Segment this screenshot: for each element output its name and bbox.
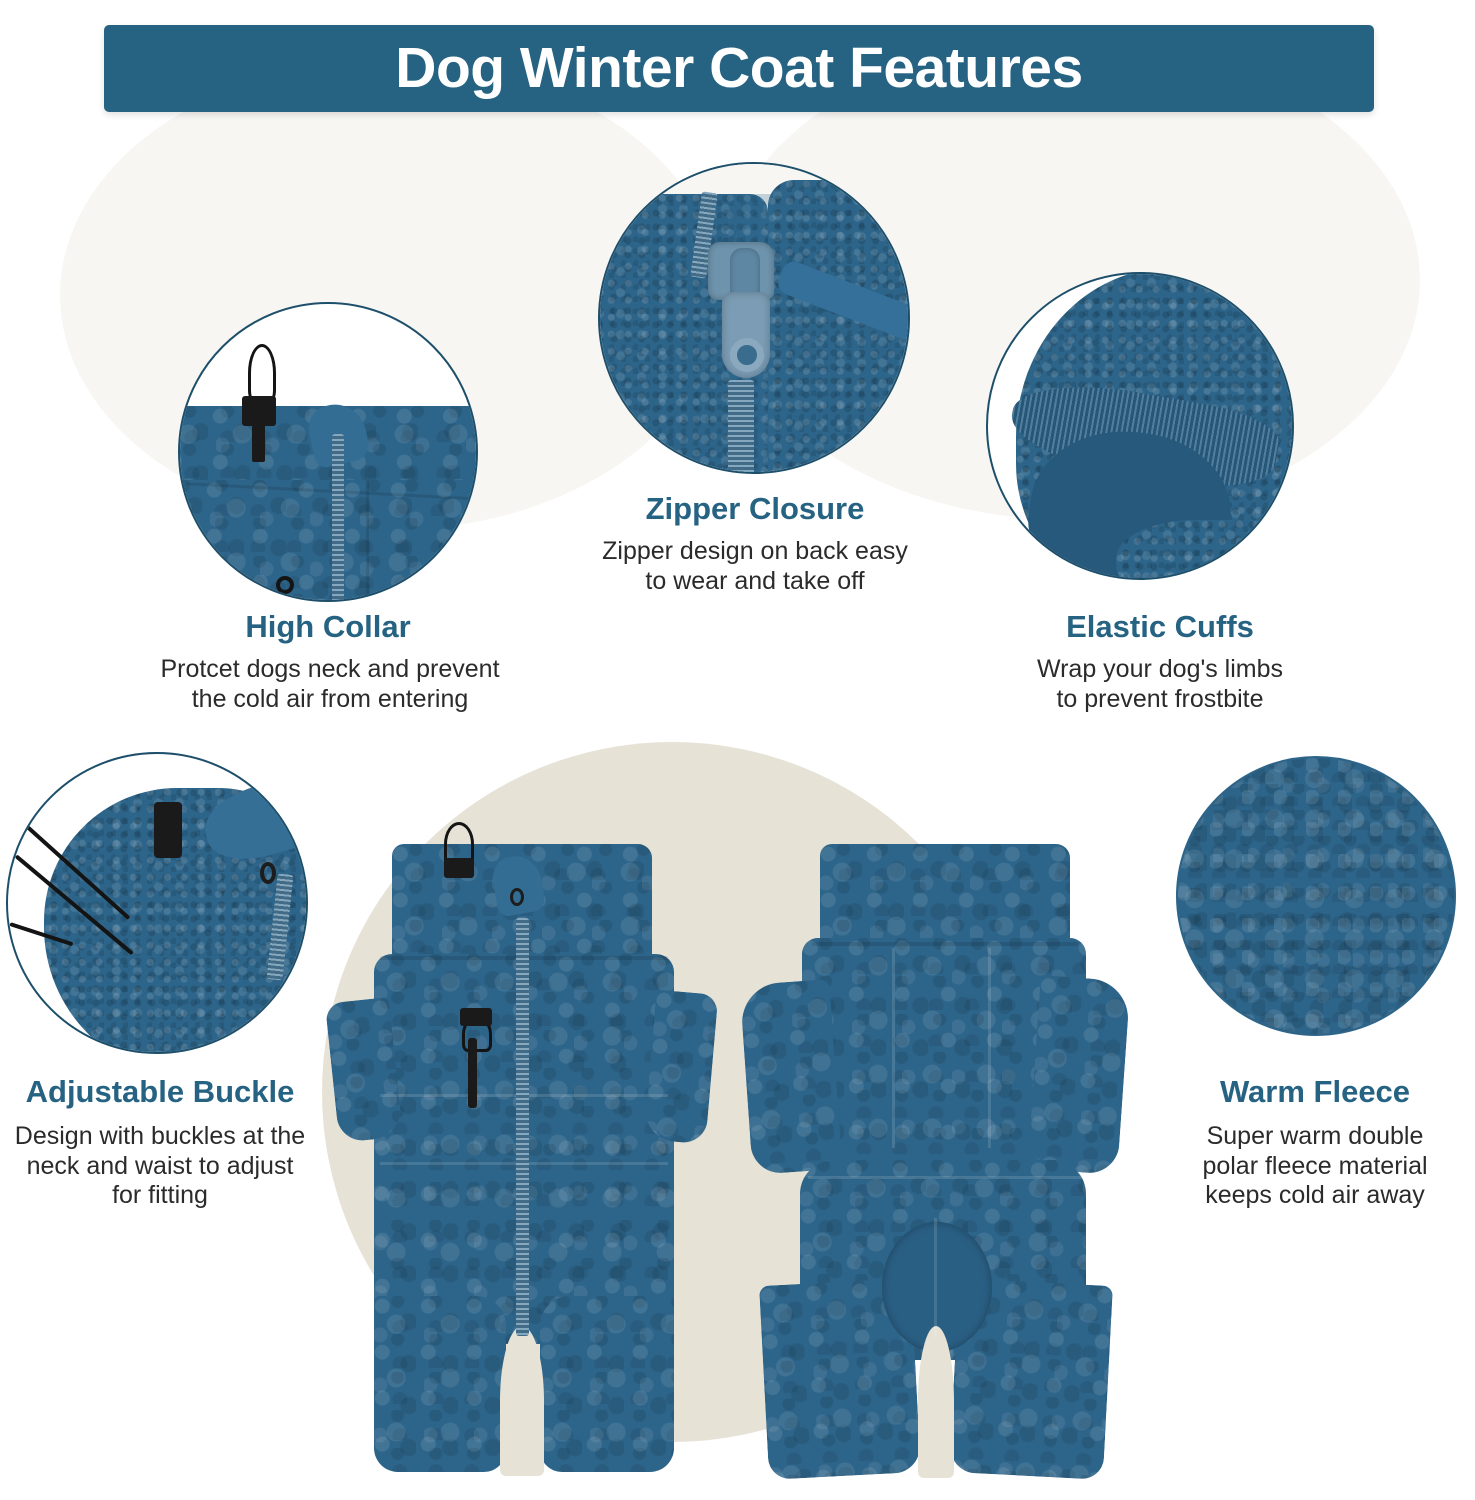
- page-title: Dog Winter Coat Features: [395, 40, 1082, 97]
- zipper-closure-image-circle: [598, 162, 910, 474]
- warm-fleece-desc-line-3: keeps cold air away: [1160, 1181, 1470, 1211]
- zipper-closure-description: Zipper design on back easy to wear and t…: [545, 537, 965, 596]
- warm-fleece-image-circle: [1176, 756, 1456, 1036]
- back-left-front-sleeve: [739, 979, 842, 1175]
- front-right-sleeve: [644, 990, 719, 1145]
- dog-coat-front-view-photo: [318, 826, 722, 1486]
- zipper-closure-desc-line-2: to wear and take off: [545, 567, 965, 597]
- warm-fleece-desc-line-2: polar fleece material: [1160, 1152, 1470, 1182]
- zipper-teeth-lower: [728, 380, 754, 474]
- zipper-closure-desc-line-1: Zipper design on back easy: [545, 537, 965, 567]
- page-title-banner: Dog Winter Coat Features: [104, 25, 1374, 112]
- high-collar-description: Protcet dogs neck and prevent the cold a…: [120, 655, 540, 714]
- elastic-cuffs-desc-line-2: to prevent frostbite: [960, 685, 1360, 715]
- warm-fleece-title: Warm Fleece: [1160, 1075, 1470, 1109]
- back-collar-band: [820, 844, 1070, 952]
- warm-fleece-desc-line-1: Super warm double: [1160, 1122, 1470, 1152]
- high-collar-closeup-photo: [180, 304, 476, 600]
- collar-cord-tail: [252, 422, 265, 462]
- high-collar-image-circle: [178, 302, 478, 602]
- elastic-cuff-closeup-photo: [988, 274, 1292, 578]
- warm-fleece-texture-photo: [1178, 758, 1454, 1034]
- front-center-zipper: [516, 918, 529, 1336]
- collar-lower-grommet: [276, 576, 294, 594]
- back-right-saddle-seam: [988, 948, 991, 1148]
- warm-fleece-description: Super warm double polar fleece material …: [1160, 1122, 1470, 1211]
- back-hip-seam: [808, 1176, 1082, 1179]
- dog-coat-back-view-photo: [742, 830, 1124, 1480]
- adjustable-buckle-desc-line-3: for fitting: [0, 1181, 320, 1211]
- back-crotch-gap: [918, 1326, 954, 1478]
- front-collar-grommet: [510, 888, 524, 906]
- front-waist-cord-toggle: [460, 1008, 492, 1026]
- back-right-front-sleeve: [1027, 975, 1130, 1175]
- adjustable-buckle-title: Adjustable Buckle: [0, 1075, 320, 1109]
- front-left-rear-leg: [374, 1296, 506, 1472]
- collar-drawstring-cord: [248, 344, 276, 402]
- front-right-rear-leg: [540, 1296, 674, 1472]
- elastic-cuffs-image-circle: [986, 272, 1294, 580]
- back-collar-seam: [812, 942, 1078, 946]
- adjustable-buckle-image-circle: [6, 752, 308, 1054]
- elastic-cuffs-description: Wrap your dog's limbs to prevent frostbi…: [960, 655, 1360, 714]
- collar-vertical-seam: [366, 480, 369, 602]
- elastic-cuffs-title: Elastic Cuffs: [980, 610, 1340, 644]
- front-crotch-gap: [500, 1326, 544, 1476]
- high-collar-title: High Collar: [148, 610, 508, 644]
- buckle-cord-toggle: [154, 802, 182, 858]
- elastic-cuffs-desc-line-1: Wrap your dog's limbs: [960, 655, 1360, 685]
- adjustable-buckle-closeup-photo: [8, 754, 306, 1052]
- adjustable-buckle-desc-line-1: Design with buckles at the: [0, 1122, 320, 1152]
- zipper-closure-title: Zipper Closure: [565, 492, 945, 526]
- adjustable-buckle-desc-line-2: neck and waist to adjust: [0, 1152, 320, 1182]
- collar-zipper-track: [332, 434, 344, 602]
- front-waist-cord-tail: [468, 1038, 477, 1108]
- high-collar-desc-line-1: Protcet dogs neck and prevent: [120, 655, 540, 685]
- zipper-pull-hole: [730, 338, 764, 372]
- high-collar-desc-line-2: the cold air from entering: [120, 685, 540, 715]
- cuff-lower-lip: [1116, 520, 1294, 580]
- infographic-page: Dog Winter Coat Features High Collar: [0, 0, 1475, 1500]
- back-tail-center-seam: [934, 1218, 937, 1338]
- adjustable-buckle-description: Design with buckles at the neck and wais…: [0, 1122, 320, 1211]
- zipper-closure-closeup-photo: [600, 164, 908, 472]
- back-left-saddle-seam: [892, 948, 895, 1148]
- buckle-grommet: [260, 862, 276, 884]
- front-neck-cord-toggle: [444, 858, 474, 878]
- collar-body-fabric: [178, 480, 478, 602]
